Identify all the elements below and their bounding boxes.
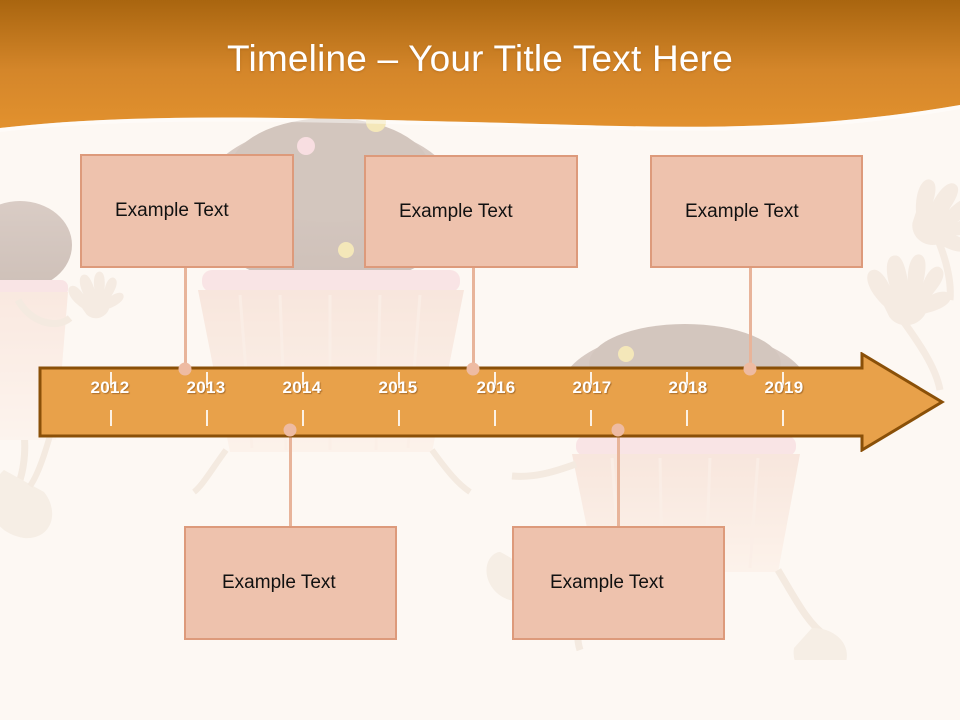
year-label-2018: 2018: [668, 378, 707, 398]
year-label-2013: 2013: [186, 378, 225, 398]
connector-dot-top-2: [467, 363, 480, 376]
tick-mark: [398, 410, 400, 426]
connector-dot-top-1: [179, 363, 192, 376]
tick-mark: [110, 410, 112, 426]
year-label-2014: 2014: [282, 378, 321, 398]
tick-mark: [302, 410, 304, 426]
callout-text: Example Text: [186, 572, 336, 594]
year-label-2019: 2019: [764, 378, 803, 398]
callout-box-top-1[interactable]: Example Text: [80, 154, 294, 268]
callout-text: Example Text: [514, 572, 664, 594]
callout-box-bottom-1[interactable]: Example Text: [184, 526, 397, 640]
year-label-2015: 2015: [378, 378, 417, 398]
year-label-2016: 2016: [476, 378, 515, 398]
page-title: Timeline – Your Title Text Here: [0, 38, 960, 80]
tick-mark: [782, 410, 784, 426]
connector-dot-bottom-2: [612, 424, 625, 437]
tick-mark: [494, 410, 496, 426]
connector-dot-top-3: [744, 363, 757, 376]
callout-box-bottom-2[interactable]: Example Text: [512, 526, 725, 640]
year-label-2017: 2017: [572, 378, 611, 398]
tick-mark: [206, 410, 208, 426]
callout-text: Example Text: [652, 201, 799, 223]
callout-text: Example Text: [366, 201, 513, 223]
callout-text: Example Text: [82, 200, 229, 222]
tick-mark: [590, 410, 592, 426]
slide-canvas: Timeline – Your Title Text Here 2012 201…: [0, 0, 960, 720]
callout-box-top-2[interactable]: Example Text: [364, 155, 578, 268]
tick-mark: [686, 410, 688, 426]
slide-header: Timeline – Your Title Text Here: [0, 0, 960, 150]
callout-box-top-3[interactable]: Example Text: [650, 155, 863, 268]
year-label-2012: 2012: [90, 378, 129, 398]
timeline-ticks: [40, 368, 860, 430]
connector-dot-bottom-1: [284, 424, 297, 437]
